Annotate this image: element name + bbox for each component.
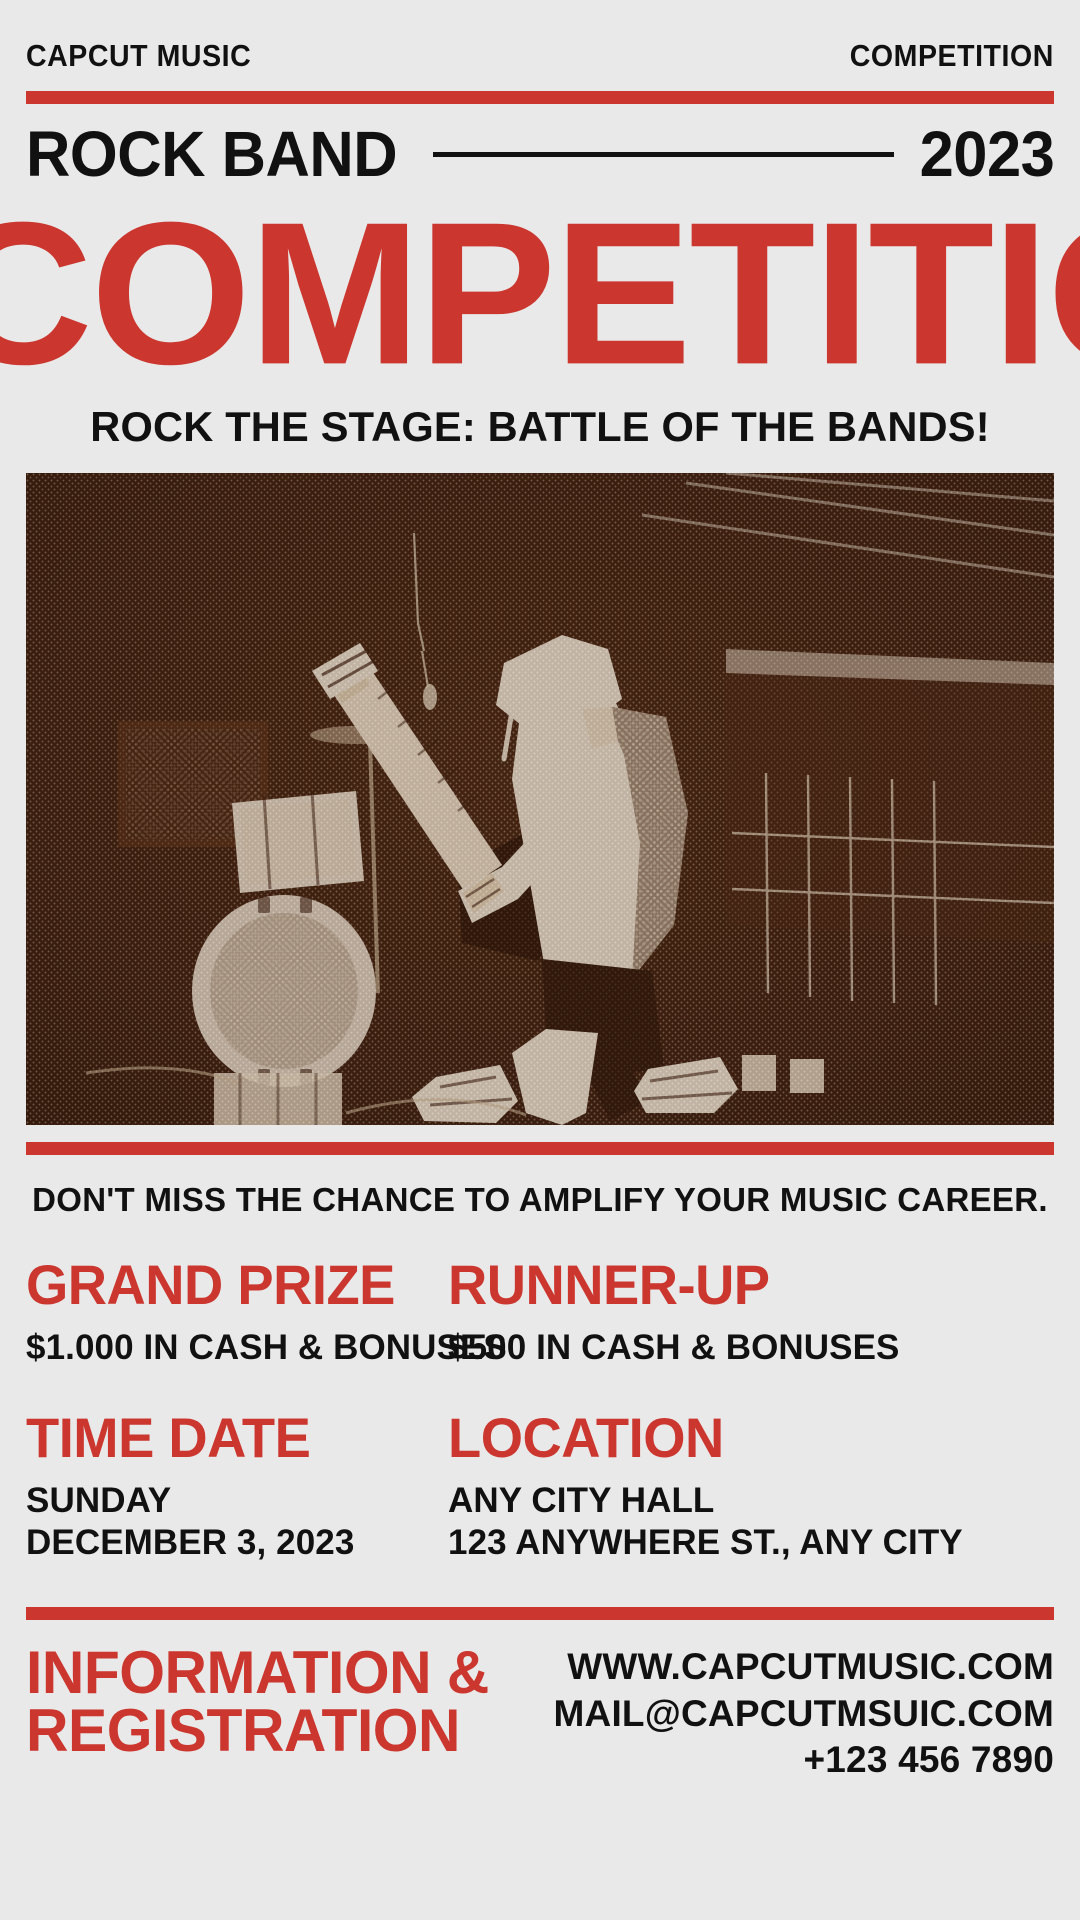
title-row: ROCK BAND 2023 bbox=[26, 122, 1054, 186]
contact-phone[interactable]: +123 456 7890 bbox=[554, 1737, 1054, 1784]
time-date-body: SUNDAY DECEMBER 3, 2023 bbox=[26, 1480, 448, 1565]
poster-header: CAPCUT MUSIC COMPETITION bbox=[26, 0, 1054, 74]
location-cell: LOCATION ANY CITY HALL 123 ANYWHERE ST.,… bbox=[448, 1410, 1054, 1565]
stage-photo-artwork bbox=[26, 473, 1054, 1125]
section-label: COMPETITION bbox=[850, 38, 1054, 74]
contact-website[interactable]: WWW.CAPCUTMUSIC.COM bbox=[554, 1644, 1054, 1691]
poster-root: CAPCUT MUSIC COMPETITION ROCK BAND 2023 … bbox=[0, 0, 1080, 1920]
runner-up-cell: RUNNER-UP $500 IN CASH & BONUSES bbox=[448, 1257, 1054, 1370]
time-date-line1: SUNDAY bbox=[26, 1480, 448, 1523]
location-line1: ANY CITY HALL bbox=[448, 1480, 1054, 1523]
registration-title: INFORMATION & REGISTRATION bbox=[26, 1644, 489, 1759]
time-date-cell: TIME DATE SUNDAY DECEMBER 3, 2023 bbox=[26, 1410, 448, 1565]
location-body: ANY CITY HALL 123 ANYWHERE ST., ANY CITY bbox=[448, 1480, 1054, 1565]
photo-divider-rule bbox=[26, 1142, 1054, 1155]
contact-block: WWW.CAPCUTMUSIC.COM MAIL@CAPCUTMSUIC.COM… bbox=[554, 1644, 1054, 1784]
grand-prize-title: GRAND PRIZE bbox=[26, 1257, 435, 1313]
poster-footer: INFORMATION & REGISTRATION WWW.CAPCUTMUS… bbox=[26, 1644, 1054, 1784]
registration-title-line2: REGISTRATION bbox=[26, 1702, 489, 1760]
header-divider-rule bbox=[26, 91, 1054, 104]
rock-band-label: ROCK BAND bbox=[26, 122, 397, 186]
location-line2: 123 ANYWHERE ST., ANY CITY bbox=[448, 1522, 1054, 1565]
time-date-title: TIME DATE bbox=[26, 1410, 435, 1466]
grand-prize-body: $1.000 IN CASH & BONUSES bbox=[26, 1327, 448, 1370]
stage-photo bbox=[26, 473, 1054, 1125]
time-date-line2: DECEMBER 3, 2023 bbox=[26, 1522, 448, 1565]
info-grid: GRAND PRIZE $1.000 IN CASH & BONUSES RUN… bbox=[26, 1257, 1054, 1565]
footer-divider-rule bbox=[26, 1607, 1054, 1620]
year-label: 2023 bbox=[919, 122, 1054, 186]
tagline: ROCK THE STAGE: BATTLE OF THE BANDS! bbox=[31, 403, 1049, 451]
main-headline: COMPETITION bbox=[0, 206, 1080, 381]
contact-email[interactable]: MAIL@CAPCUTMSUIC.COM bbox=[554, 1691, 1054, 1738]
brand-label: CAPCUT MUSIC bbox=[26, 38, 251, 74]
sub-note: DON'T MISS THE CHANCE TO AMPLIFY YOUR MU… bbox=[26, 1181, 1054, 1219]
runner-up-body: $500 IN CASH & BONUSES bbox=[448, 1327, 1054, 1370]
registration-title-line1: INFORMATION & bbox=[26, 1644, 489, 1702]
grand-prize-cell: GRAND PRIZE $1.000 IN CASH & BONUSES bbox=[26, 1257, 448, 1370]
title-dash-rule bbox=[433, 152, 894, 157]
runner-up-title: RUNNER-UP bbox=[448, 1257, 1036, 1313]
location-title: LOCATION bbox=[448, 1410, 1036, 1466]
